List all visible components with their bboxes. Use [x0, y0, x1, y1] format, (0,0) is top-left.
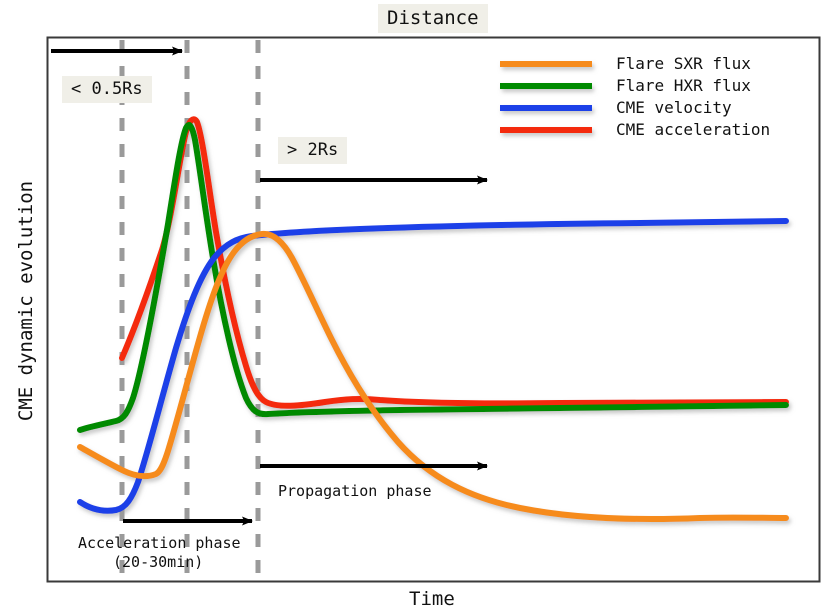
y-axis-label: CME dynamic evolution [15, 181, 37, 421]
annotation-acceleration-duration: (20-30min) [113, 553, 203, 571]
legend-label-cme-velocity: CME velocity [616, 98, 732, 117]
annotation-propagation-phase: Propagation phase [278, 482, 432, 500]
legend-label-flare-hxr: Flare HXR flux [616, 76, 751, 95]
figure-canvas: Distance Time CME dynamic evolution < 0.… [0, 0, 831, 614]
annotation-distance-near: < 0.5Rs [62, 76, 152, 103]
legend-label-cme-acceleration: CME acceleration [616, 120, 770, 139]
x-axis-label: Time [409, 588, 455, 610]
chart-top-title: Distance [378, 4, 488, 33]
annotation-acceleration-phase: Acceleration phase [78, 534, 241, 552]
legend-label-flare-sxr: Flare SXR flux [616, 54, 751, 73]
annotation-distance-far: > 2Rs [278, 137, 347, 164]
